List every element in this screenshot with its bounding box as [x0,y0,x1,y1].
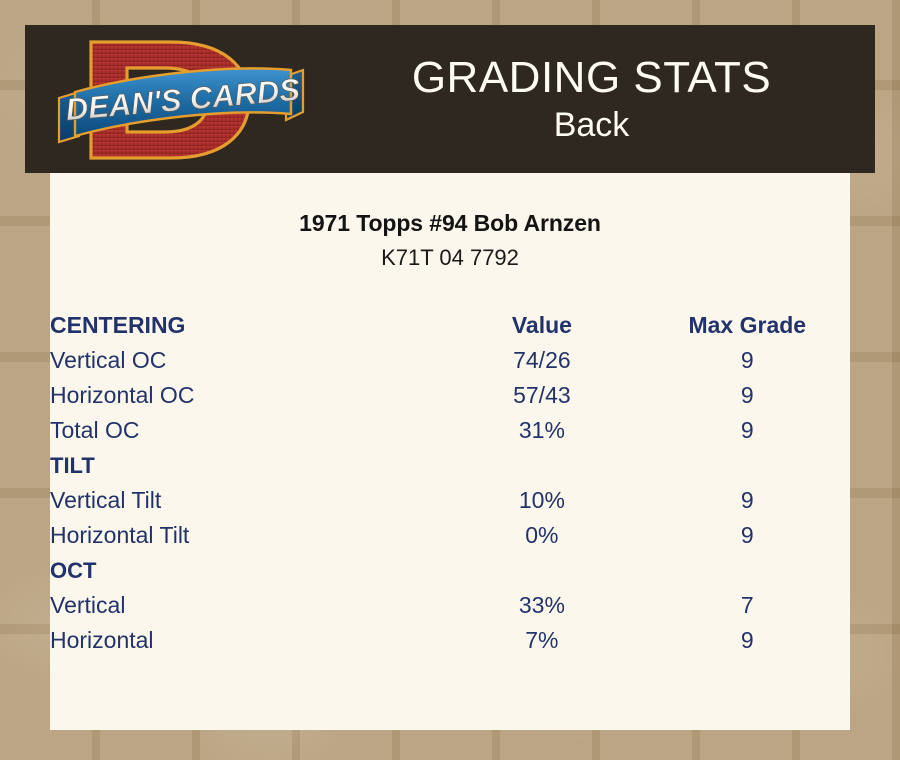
logo-artwork: DEAN'S CARDS [53,30,308,170]
deans-cards-logo[interactable]: DEAN'S CARDS [53,30,308,170]
row-value: 74/26 [439,343,644,378]
table-row: Vertical OC74/269 [50,343,850,378]
row-value: 33% [439,588,644,623]
grading-stats-table: CENTERINGValueMax GradeVertical OC74/269… [50,307,850,658]
page-subtitle: Back [554,105,630,145]
section-label: OCT [50,553,850,588]
row-label: Horizontal Tilt [50,518,439,553]
column-header-max-grade: Max Grade [645,307,850,343]
stats-panel: 1971 Topps #94 Bob Arnzen K71T 04 7792 C… [50,173,850,730]
header-bar: DEAN'S CARDS GRADING STATS Back [25,25,875,173]
row-value: 0% [439,518,644,553]
row-max-grade: 9 [645,483,850,518]
row-value: 57/43 [439,378,644,413]
table-row: Vertical33%7 [50,588,850,623]
table-header-row: CENTERINGValueMax Grade [50,307,850,343]
row-max-grade: 7 [645,588,850,623]
card-title: 1971 Topps #94 Bob Arnzen [50,210,850,237]
card-serial-number: K71T 04 7792 [50,245,850,271]
row-max-grade: 9 [645,378,850,413]
table-row: Horizontal7%9 [50,623,850,658]
column-header-section: CENTERING [50,307,439,343]
row-value: 10% [439,483,644,518]
row-label: Total OC [50,413,439,448]
header-titles: GRADING STATS Back [308,25,875,173]
row-value: 31% [439,413,644,448]
table-row: Total OC31%9 [50,413,850,448]
row-max-grade: 9 [645,623,850,658]
row-max-grade: 9 [645,413,850,448]
row-max-grade: 9 [645,343,850,378]
row-value: 7% [439,623,644,658]
table-section-header: OCT [50,553,850,588]
table-row: Horizontal OC57/439 [50,378,850,413]
row-label: Horizontal OC [50,378,439,413]
table-row: Vertical Tilt10%9 [50,483,850,518]
section-label: TILT [50,448,850,483]
row-label: Horizontal [50,623,439,658]
row-label: Vertical [50,588,439,623]
row-max-grade: 9 [645,518,850,553]
table-row: Horizontal Tilt0%9 [50,518,850,553]
table-section-header: TILT [50,448,850,483]
row-label: Vertical Tilt [50,483,439,518]
page-title: GRADING STATS [412,53,771,103]
row-label: Vertical OC [50,343,439,378]
column-header-value: Value [439,307,644,343]
